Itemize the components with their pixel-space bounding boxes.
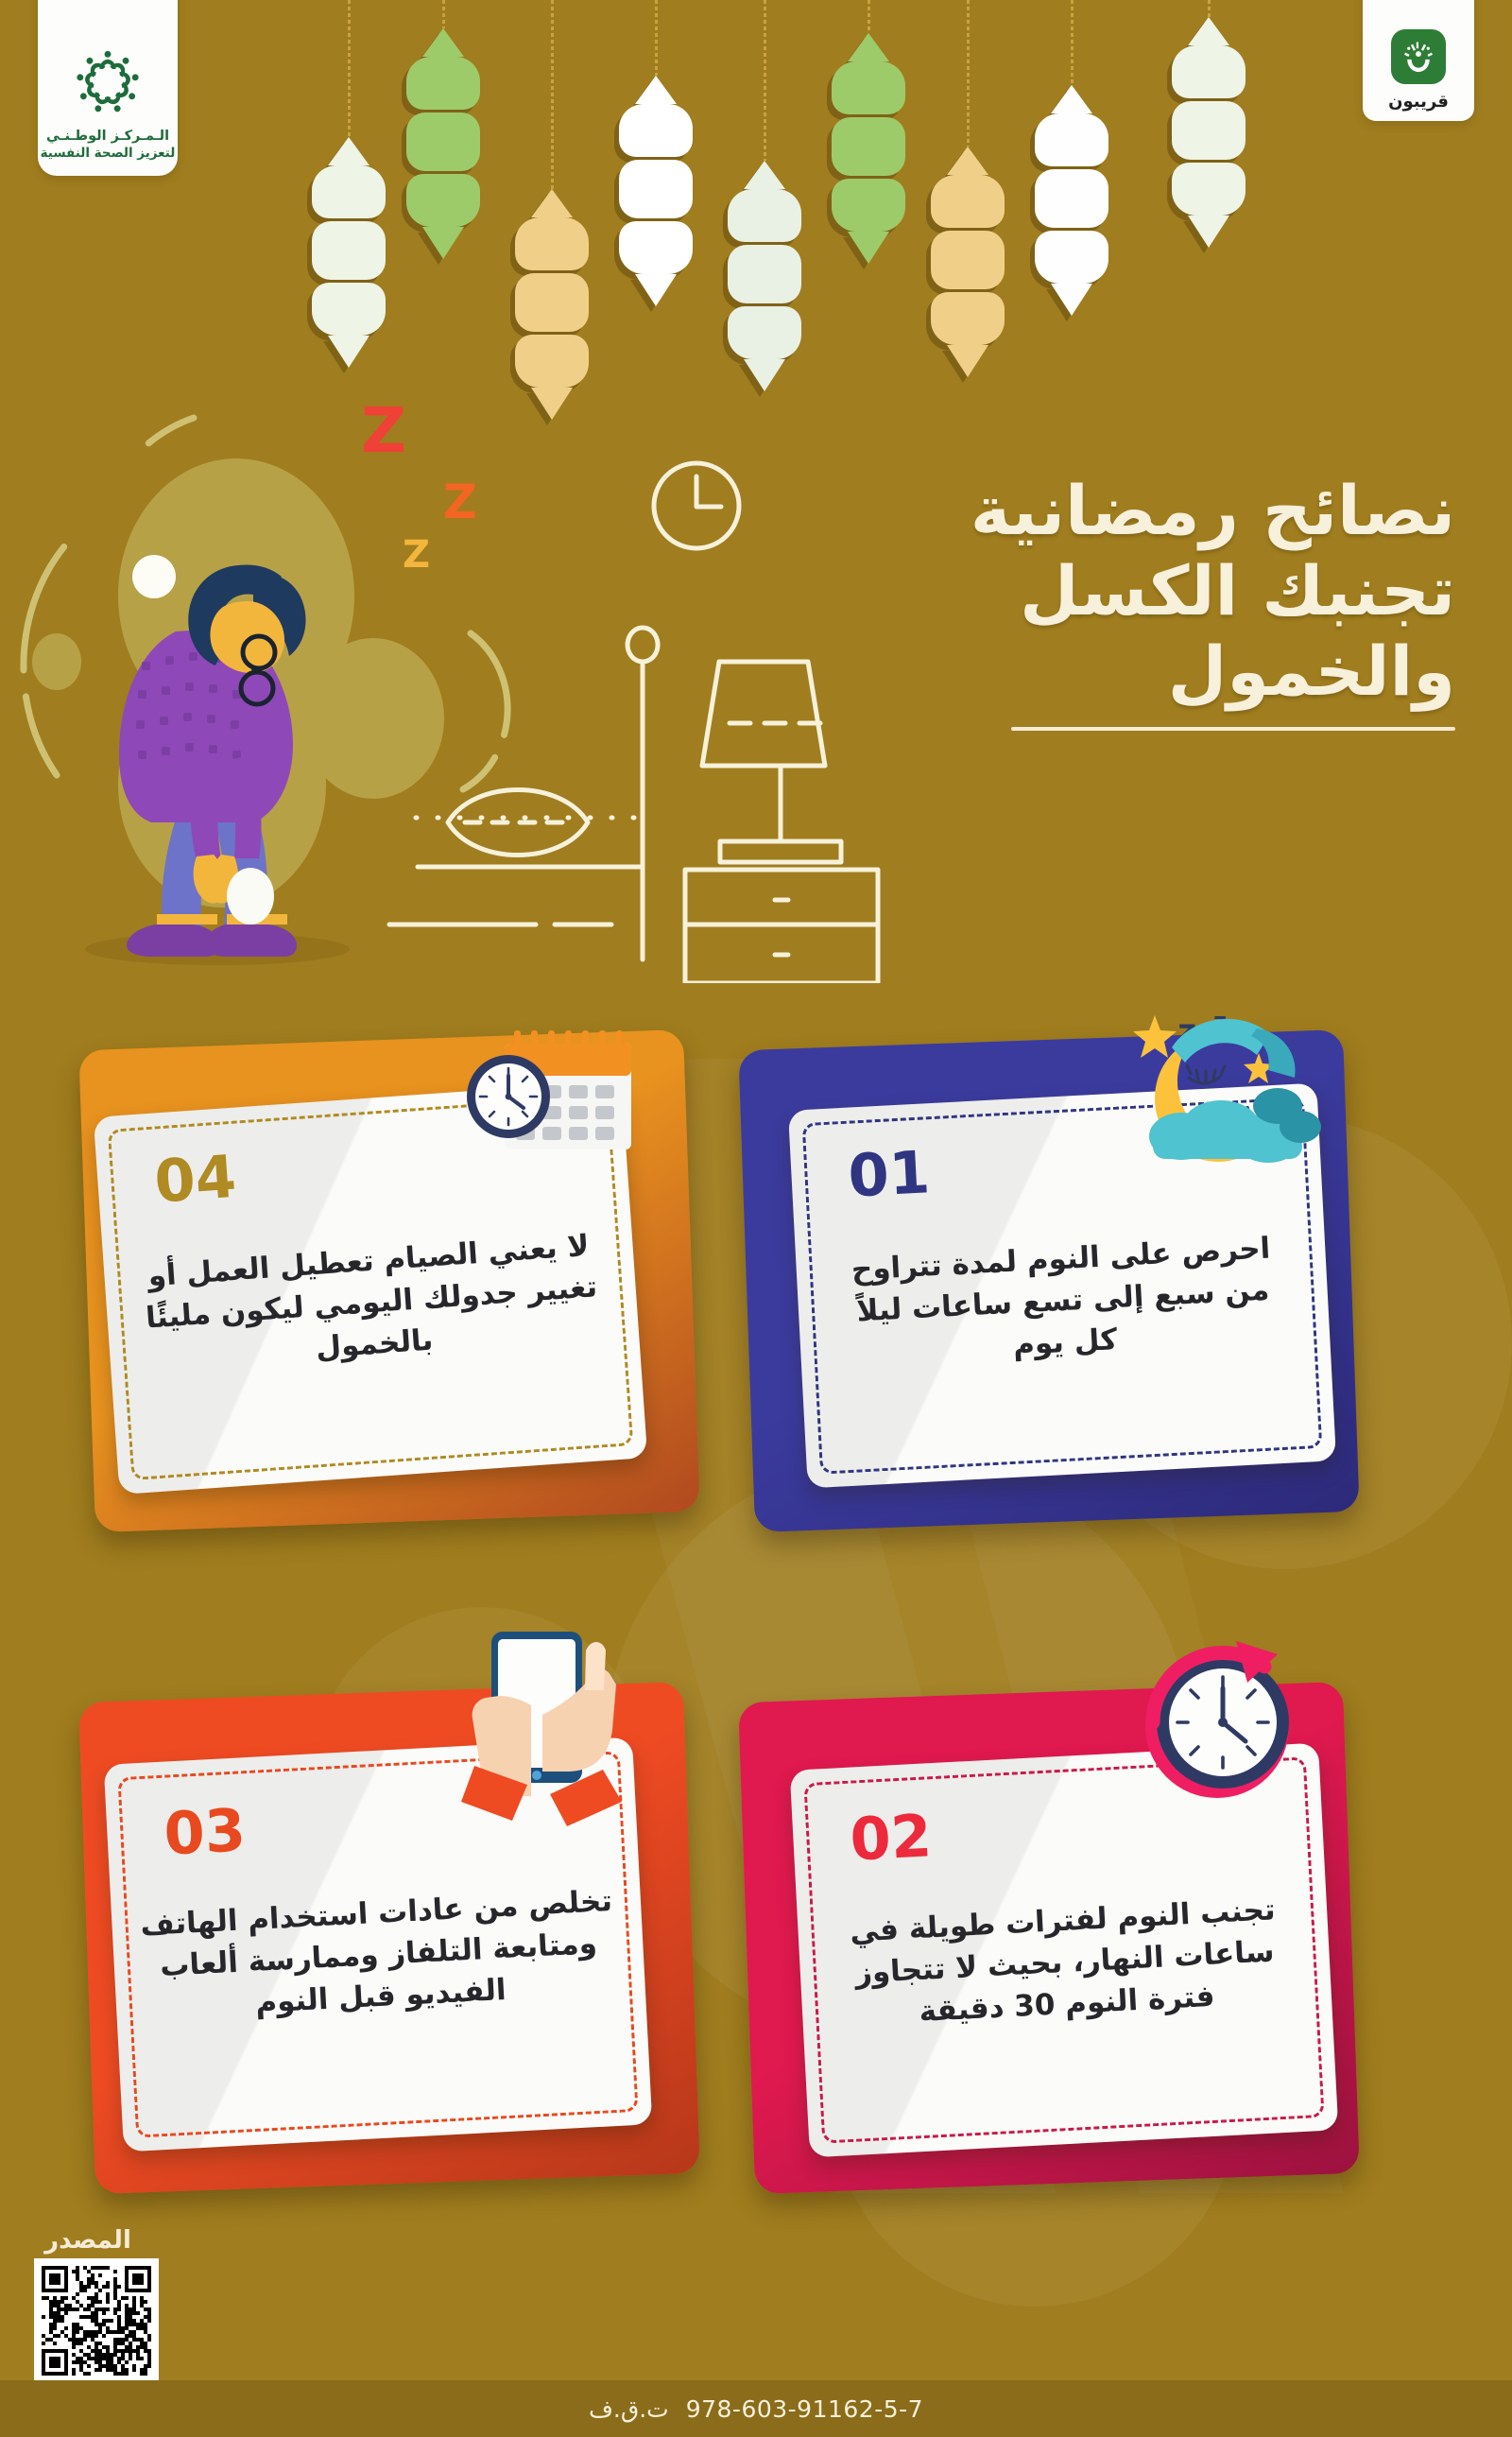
app-badge-card[interactable]: قريبون [1363,0,1474,121]
lantern [406,0,480,259]
infographic-poster: الـمـركـز الوطـنـي لتعزيز الصحة النفسية … [0,0,1512,2437]
card-number: 03 [163,1801,247,1863]
tip-card-01[interactable]: 01 احرص على النوم لمدة تتراوح من سبع إلى… [747,1040,1351,1522]
source-block[interactable]: المصدر [17,2226,159,2383]
pink-alarm-clock-icon [1125,1624,1314,1817]
title-underline [1011,727,1455,731]
lantern-decoration-row [0,0,1512,378]
tip-card-02[interactable]: 02 تجنب النوم لفترات طويلة في ساعات النه… [747,1692,1351,2184]
qareeboon-app-icon [1391,29,1446,84]
isbn-prefix: ت.ق.ف [589,2395,669,2423]
source-label: المصدر [17,2226,159,2255]
logo-line-1: الـمـركـز الوطـنـي [46,129,169,144]
sleeping-moon-and-cloud-icon: z z [1115,994,1332,1178]
hand-holding-smartphone-icon [446,1624,644,1836]
qr-code-icon[interactable] [34,2258,159,2383]
card-number: 01 [847,1143,931,1205]
footer-bar: 978-603-91162-5-7 ت.ق.ف [0,2380,1512,2437]
tip-card-03[interactable]: 03 تخلص من عادات استخدام الهاتف ومتابعة … [87,1692,692,2184]
logo-line-2: لتعزيز الصحة النفسية [41,146,176,161]
card-number: 04 [153,1148,238,1212]
calendar-and-clock-icon [455,1023,644,1187]
lantern [312,0,386,368]
zzz-medium: Z [443,475,477,529]
card-number: 02 [849,1806,933,1869]
isbn-number: 978-603-91162-5-7 [686,2395,923,2423]
zzz-large: Z [361,394,406,467]
tip-card-04[interactable]: 04 لا يعني الصيام تعطيل العمل أو تغيير ج… [87,1040,692,1522]
lantern [619,0,693,306]
card-body-text: تخلص من عادات استخدام الهاتف ومتابعة الت… [139,1880,617,2030]
lantern [1172,0,1246,248]
lantern [515,0,589,420]
lantern [832,0,905,264]
card-body-text: لا يعني الصيام تعطيل العمل أو تغيير جدول… [135,1224,608,1381]
nine-person-star-logo-icon [71,45,145,119]
lantern [1035,0,1108,316]
organization-logo-card: الـمـركـز الوطـنـي لتعزيز الصحة النفسية [38,0,178,176]
card-body-text: احرص على النوم لمدة تتراوح من سبع إلى تس… [828,1226,1298,1375]
hero-illustration: Z Z Z [0,378,907,983]
card-body-text: تجنب النوم لفترات طويلة في ساعات النهار،… [826,1888,1304,2037]
lantern [728,0,801,391]
lantern [931,0,1005,377]
app-badge-label: قريبون [1388,92,1449,112]
zzz-small: Z [403,533,430,577]
